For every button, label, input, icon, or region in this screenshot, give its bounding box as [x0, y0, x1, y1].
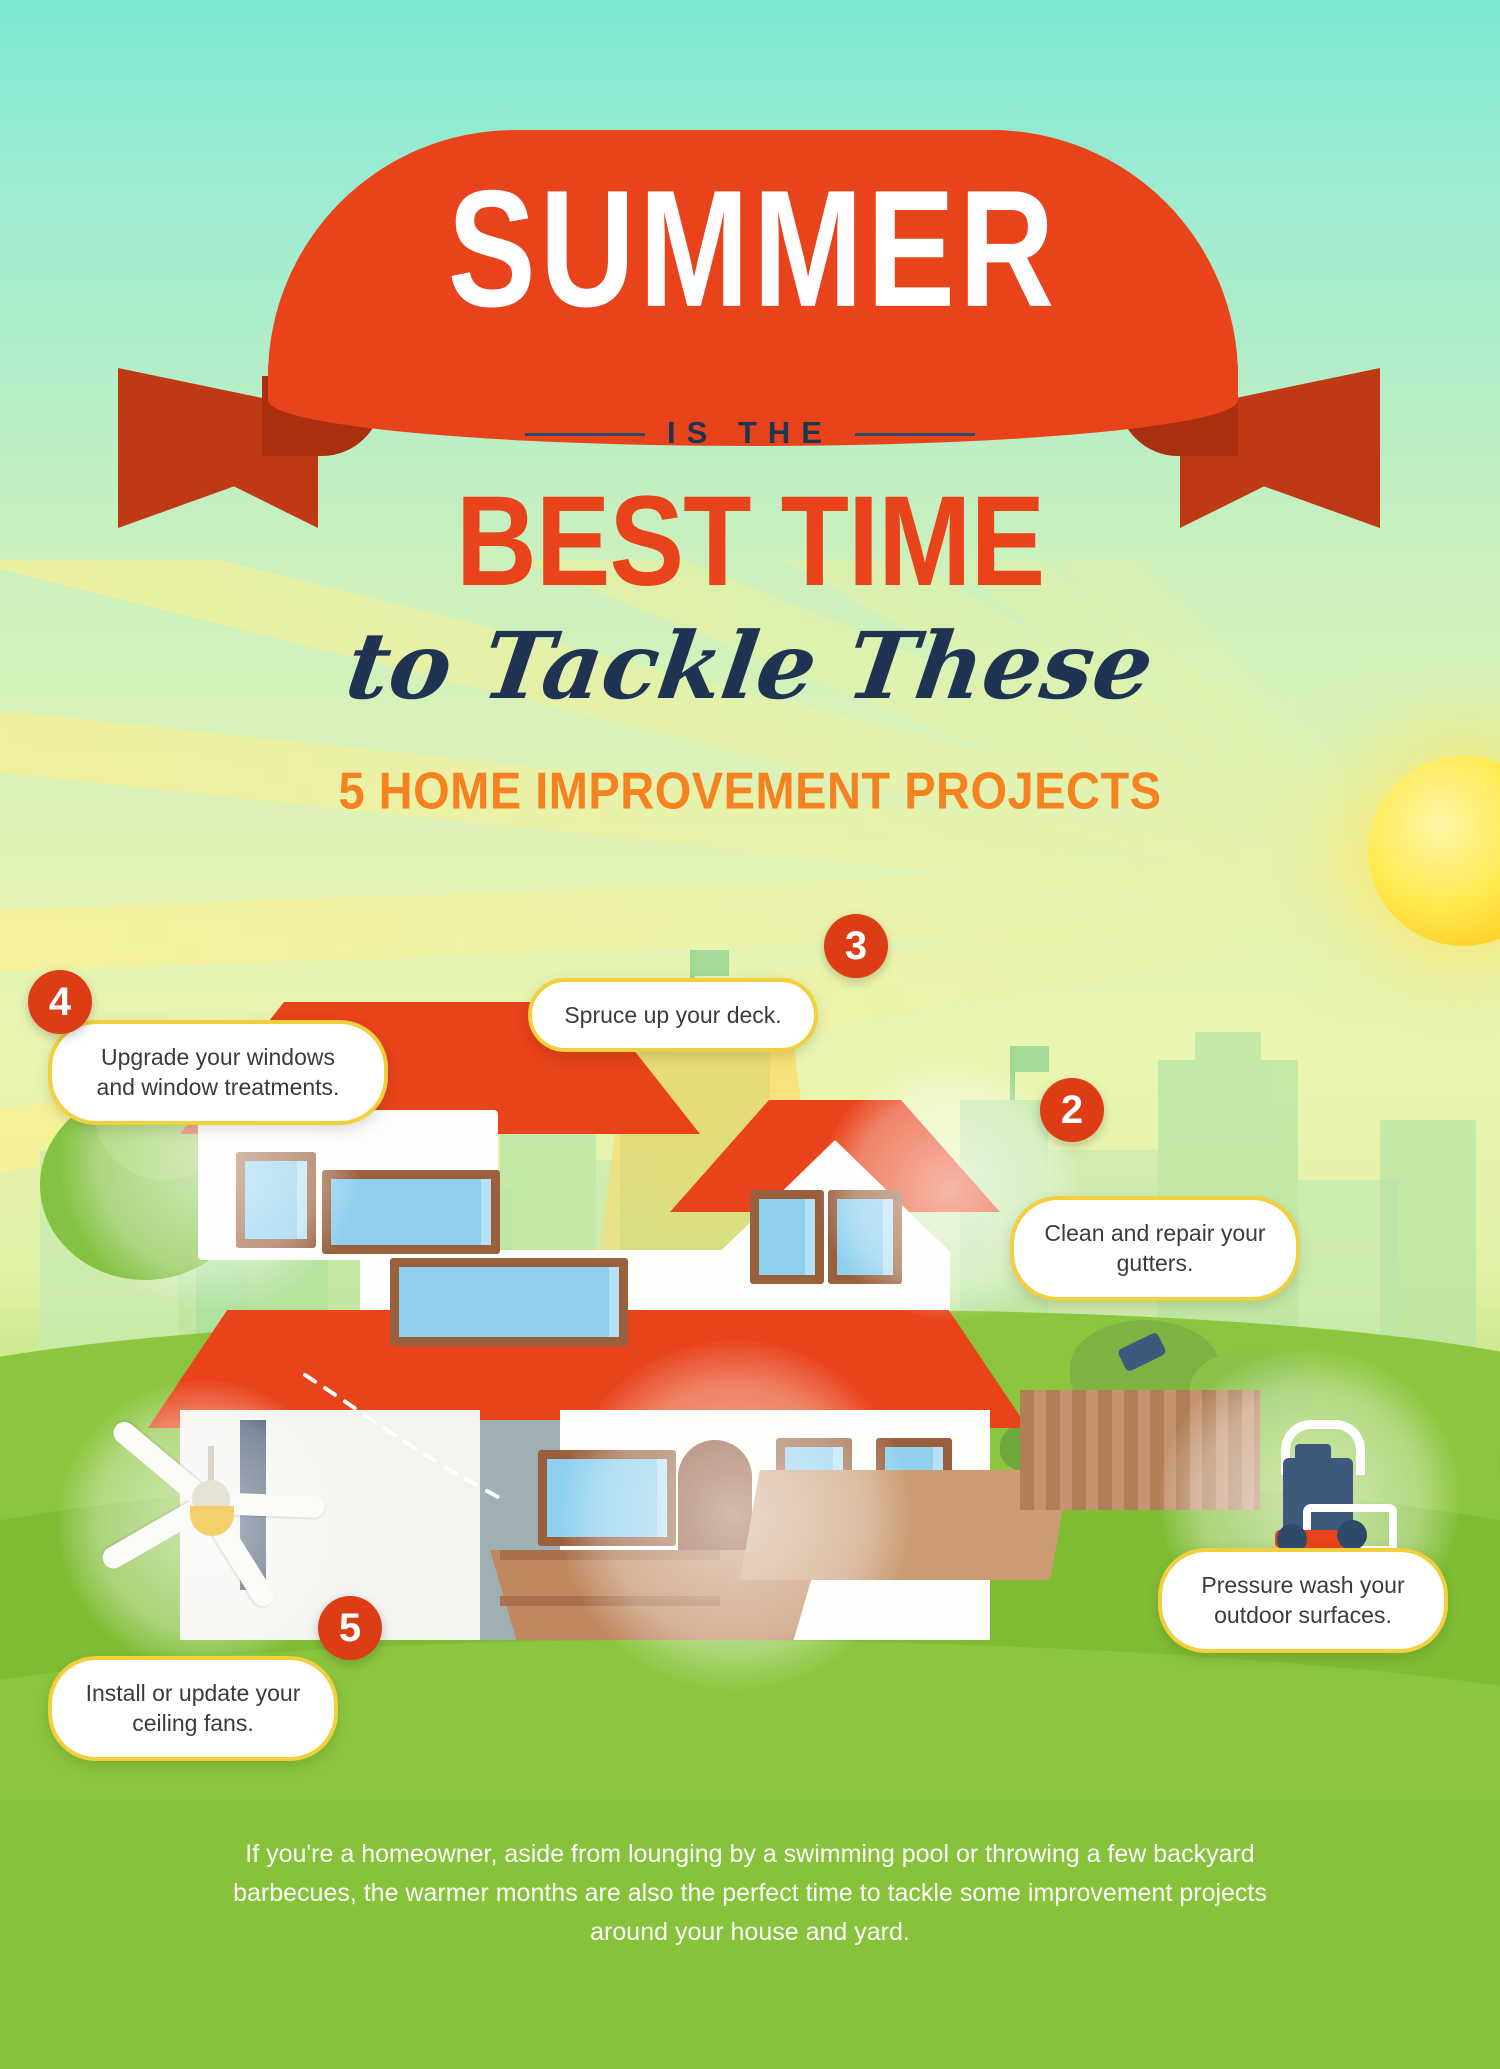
eyebrow-line: IS THE — [0, 415, 1500, 451]
dashed-pointer-line — [300, 1370, 520, 1510]
callout-1[interactable]: 1 Pressure wash your outdoor surfaces. — [1158, 1548, 1448, 1653]
callout-text-1[interactable]: Pressure wash your outdoor surfaces. — [1158, 1548, 1448, 1653]
callout-text-5[interactable]: Install or update your ceiling fans. — [48, 1656, 338, 1761]
callout-text-4[interactable]: Upgrade your windows and window treatmen… — [48, 1020, 388, 1125]
callout-2[interactable]: 2 Clean and repair your gutters. — [1010, 1196, 1300, 1301]
callout-3[interactable]: 3 Spruce up your deck. — [528, 978, 818, 1052]
page-subtitle: 5 HOME IMPROVEMENT PROJECTS — [0, 760, 1500, 821]
callout-text-2[interactable]: Clean and repair your gutters. — [1010, 1196, 1300, 1301]
callout-badge-4: 4 — [28, 970, 92, 1034]
eyebrow-text: IS THE — [667, 415, 833, 450]
ceiling-fan-icon — [100, 1440, 330, 1570]
callout-badge-5: 5 — [318, 1596, 382, 1660]
callout-4[interactable]: 4 Upgrade your windows and window treatm… — [48, 1020, 388, 1125]
footer-paragraph: If you're a homeowner, aside from loungi… — [230, 1835, 1270, 1951]
callout-5[interactable]: 5 Install or update your ceiling fans. — [48, 1656, 338, 1761]
rule-right — [855, 433, 975, 436]
callout-badge-3: 3 — [824, 914, 888, 978]
callout-badge-2: 2 — [1040, 1078, 1104, 1142]
headline: BEST TIME — [0, 478, 1500, 606]
script-subhead: to Tackle These — [0, 620, 1500, 712]
rule-left — [525, 433, 645, 436]
glow-deck — [560, 1340, 910, 1690]
banner-title: SUMMER — [268, 166, 1238, 332]
callout-text-3[interactable]: Spruce up your deck. — [528, 978, 818, 1052]
infographic-poster: SUMMER IS THE BEST TIME to Tackle These … — [0, 0, 1500, 2069]
